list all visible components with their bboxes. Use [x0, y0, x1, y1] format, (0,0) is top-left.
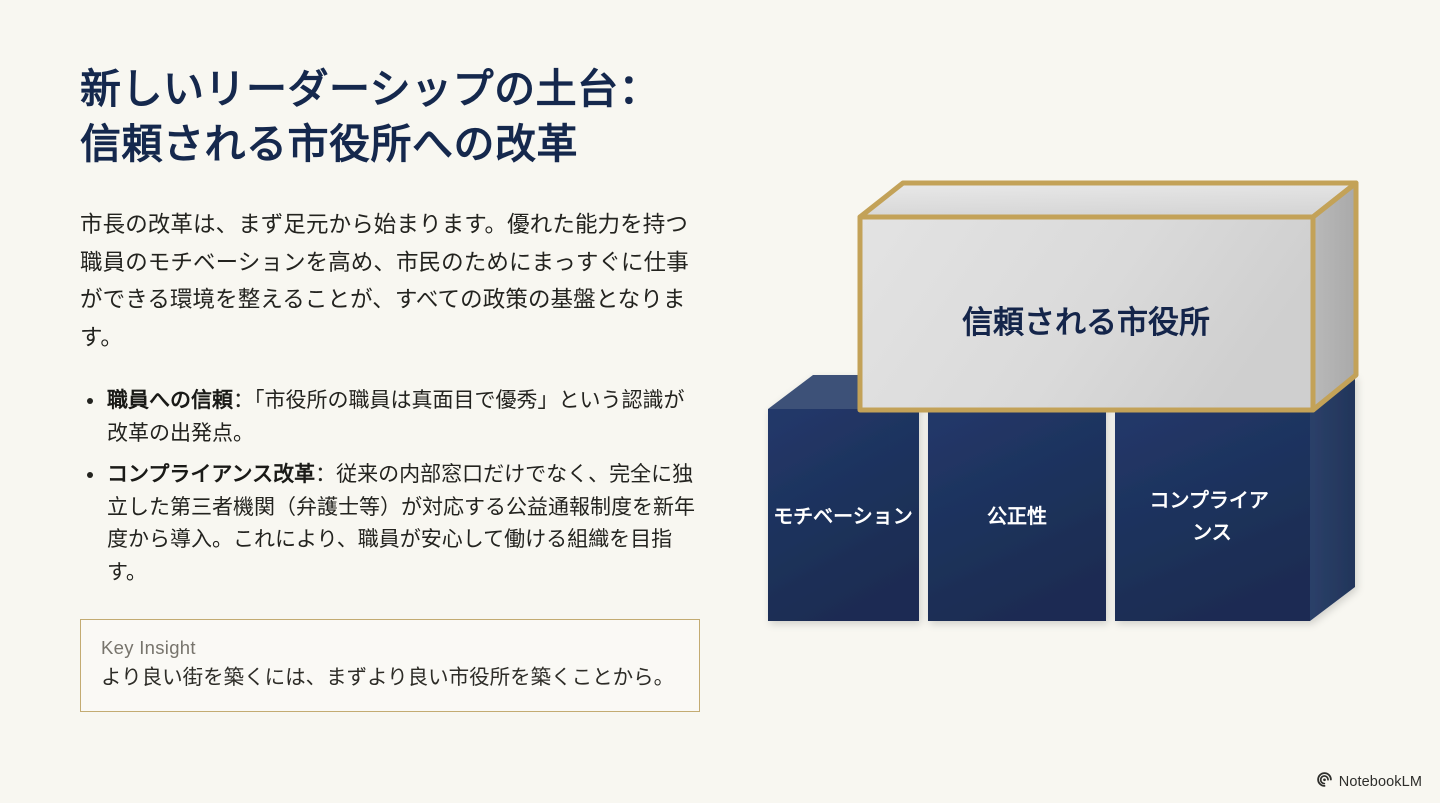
page-title: 新しいリーダーシップの土台： 信頼される市役所への改革: [80, 62, 705, 172]
brand-name: NotebookLM: [1339, 774, 1422, 790]
list-item: コンプライアンス改革：従来の内部窓口だけでなく、完全に独立した第三者機関（弁護士…: [80, 459, 705, 589]
top-block-top-face: [860, 183, 1356, 217]
pillar-label-fairness: 公正性: [987, 505, 1047, 528]
left-content-column: 新しいリーダーシップの土台： 信頼される市役所への改革 市長の改革は、まず足元か…: [80, 62, 705, 712]
slide-canvas: 新しいリーダーシップの土台： 信頼される市役所への改革 市長の改革は、まず足元か…: [0, 0, 1440, 803]
key-insight-label: Key Insight: [101, 636, 679, 660]
bullet-separator: ：: [315, 463, 336, 486]
pillar-label-motivation: モチベーション: [773, 506, 913, 528]
intro-paragraph: 市長の改革は、まず足元から始まります。優れた能力を持つ職員のモチベーションを高め…: [80, 206, 705, 357]
top-block: [860, 183, 1356, 410]
top-block-label: 信頼される市役所: [962, 305, 1210, 340]
bullet-term: コンプライアンス改革: [107, 463, 315, 486]
bullet-separator: ：: [233, 389, 254, 412]
key-insight-text: より良い街を築くには、まずより良い市役所を築くことから。: [101, 663, 679, 693]
pillar-side-face: [1310, 375, 1355, 621]
list-item: 職員への信頼：「市役所の職員は真面目で優秀」という認識が改革の出発点。: [80, 385, 705, 450]
bullet-term: 職員への信頼: [107, 389, 233, 412]
top-block-side-face: [1313, 183, 1356, 410]
key-insight-box: Key Insight より良い街を築くには、まずより良い市役所を築くことから。: [80, 619, 700, 712]
pillar-front-face: [1115, 409, 1310, 621]
bullet-list: 職員への信頼：「市役所の職員は真面目で優秀」という認識が改革の出発点。 コンプラ…: [80, 385, 705, 589]
notebooklm-brand: NotebookLM: [1316, 771, 1422, 793]
foundation-diagram: モチベーション 公正性 コンプライア ンス: [755, 165, 1405, 645]
notebooklm-spiral-icon: [1316, 771, 1333, 793]
